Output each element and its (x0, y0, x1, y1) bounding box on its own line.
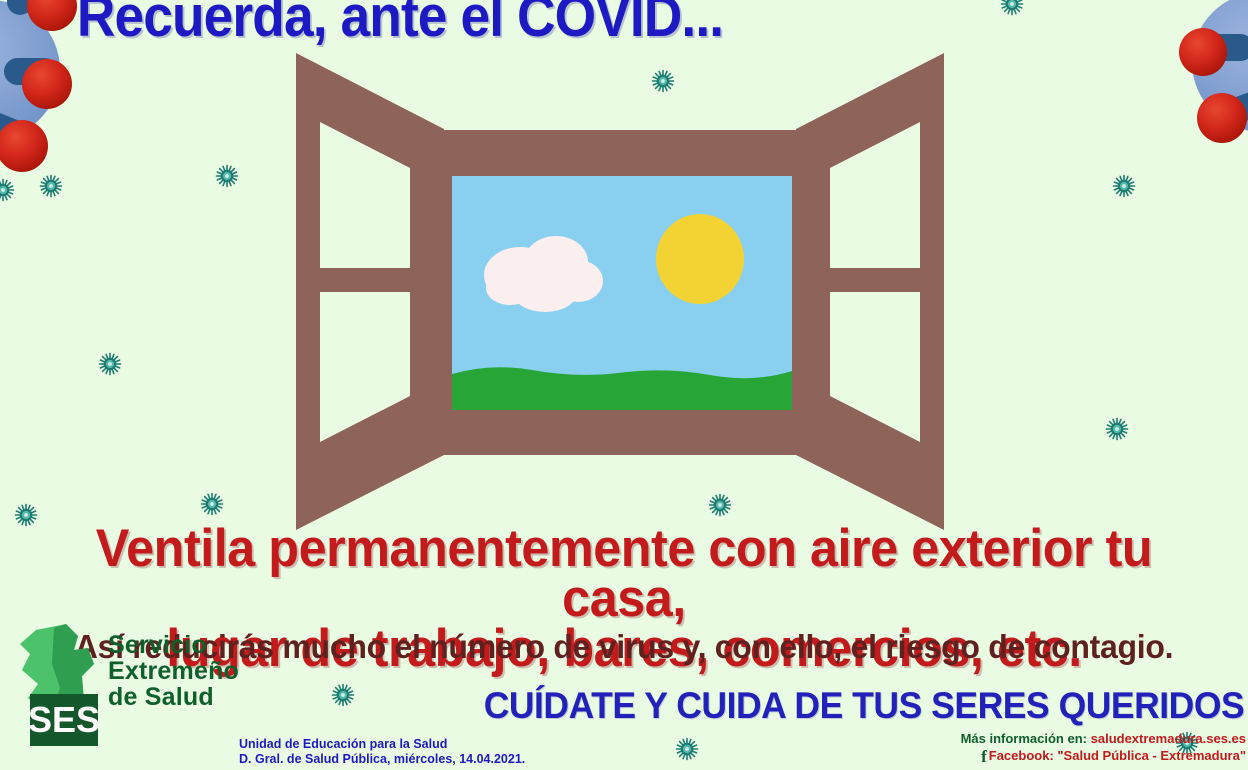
website-link[interactable]: saludextremadura.ses.es (1091, 731, 1246, 746)
logo-name-line-2: Extremeño (108, 658, 239, 684)
window-view (452, 176, 792, 410)
logo-abbr-text: SES (28, 699, 100, 740)
contact-info: Más información en: saludextremadura.ses… (961, 730, 1246, 764)
website-row: Más información en: saludextremadura.ses… (961, 730, 1246, 747)
window-shutter-left (296, 53, 444, 530)
poster-canvas: Recuerda, ante el COVID... Ventila perma… (0, 0, 1248, 770)
headline-line-1: Ventila permanentemente con aire exterio… (31, 524, 1217, 624)
facebook-f-icon: f (981, 750, 987, 763)
ses-logo: SES Servicio Extremeño de Salud (8, 618, 248, 763)
credits: Unidad de Educación para la Salud D. Gra… (239, 737, 525, 767)
extremadura-map-icon: SES (8, 618, 108, 748)
facebook-label: Facebook: "Salud Pública - Extremadura" (989, 748, 1246, 763)
sun-icon (656, 214, 744, 304)
more-info-label: Más información en: (961, 731, 1087, 746)
page-title: Recuerda, ante el COVID... (32, 0, 768, 50)
logo-name-line-3: de Salud (108, 684, 239, 710)
window-shutter-right (796, 53, 944, 530)
facebook-row[interactable]: fFacebook: "Salud Pública - Extremadura" (961, 747, 1246, 764)
logo-name-line-1: Servicio (108, 632, 239, 658)
credits-line-1: Unidad de Educación para la Salud (239, 737, 525, 752)
logo-name: Servicio Extremeño de Salud (108, 632, 239, 710)
credits-line-2: D. Gral. de Salud Pública, miércoles, 14… (239, 752, 525, 767)
call-to-action: CUÍDATE Y CUIDA DE TUS SERES QUERIDOS (483, 685, 1244, 727)
